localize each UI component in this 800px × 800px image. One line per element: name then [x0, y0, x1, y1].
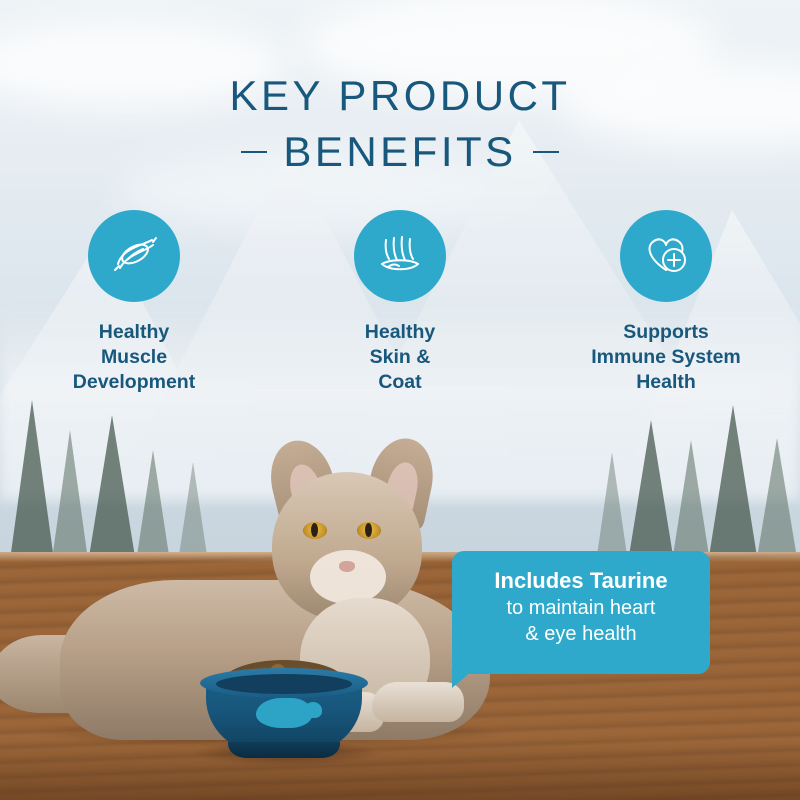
callout-content: Includes Taurine to maintain heart & eye… [452, 567, 710, 647]
product-benefits-infographic: KEY PRODUCT BENEFITS [0, 0, 800, 800]
buffalo-logo-icon [256, 698, 312, 728]
title-line-1: KEY PRODUCT [0, 72, 800, 120]
bowl-base [228, 742, 340, 758]
heart-plus-icon [638, 226, 694, 287]
benefit-item-skin-coat: Healthy Skin & Coat [305, 210, 495, 395]
page-title: KEY PRODUCT BENEFITS [0, 72, 800, 176]
callout-subtitle: to maintain heart & eye health [452, 595, 710, 647]
cat-pupil-right [365, 523, 372, 537]
cat-nose [339, 561, 355, 572]
benefit-icon-circle [620, 210, 712, 302]
title-line-2: BENEFITS [283, 128, 516, 176]
fur-coat-icon [372, 226, 428, 287]
taurine-callout: Includes Taurine to maintain heart & eye… [452, 551, 710, 674]
benefits-row: Healthy Muscle Development Healthy Ski [0, 210, 800, 395]
dash-left-icon [241, 151, 267, 153]
bowl-interior [216, 674, 352, 694]
title-line-2-row: BENEFITS [0, 128, 800, 176]
benefit-item-muscle: Healthy Muscle Development [39, 210, 229, 395]
callout-title: Includes Taurine [452, 567, 710, 595]
benefit-item-immune: Supports Immune System Health [571, 210, 761, 395]
muscle-fiber-icon [106, 226, 162, 287]
benefit-label-muscle: Healthy Muscle Development [73, 320, 195, 395]
benefit-label-skin-coat: Healthy Skin & Coat [365, 320, 435, 395]
cat-pupil-left [311, 523, 318, 537]
cat-paw-front [372, 682, 464, 722]
benefit-icon-circle [354, 210, 446, 302]
dash-right-icon [533, 151, 559, 153]
benefit-label-immune: Supports Immune System Health [591, 320, 741, 395]
callout-tail [452, 666, 478, 688]
cat-muzzle [310, 550, 386, 604]
benefit-icon-circle [88, 210, 180, 302]
